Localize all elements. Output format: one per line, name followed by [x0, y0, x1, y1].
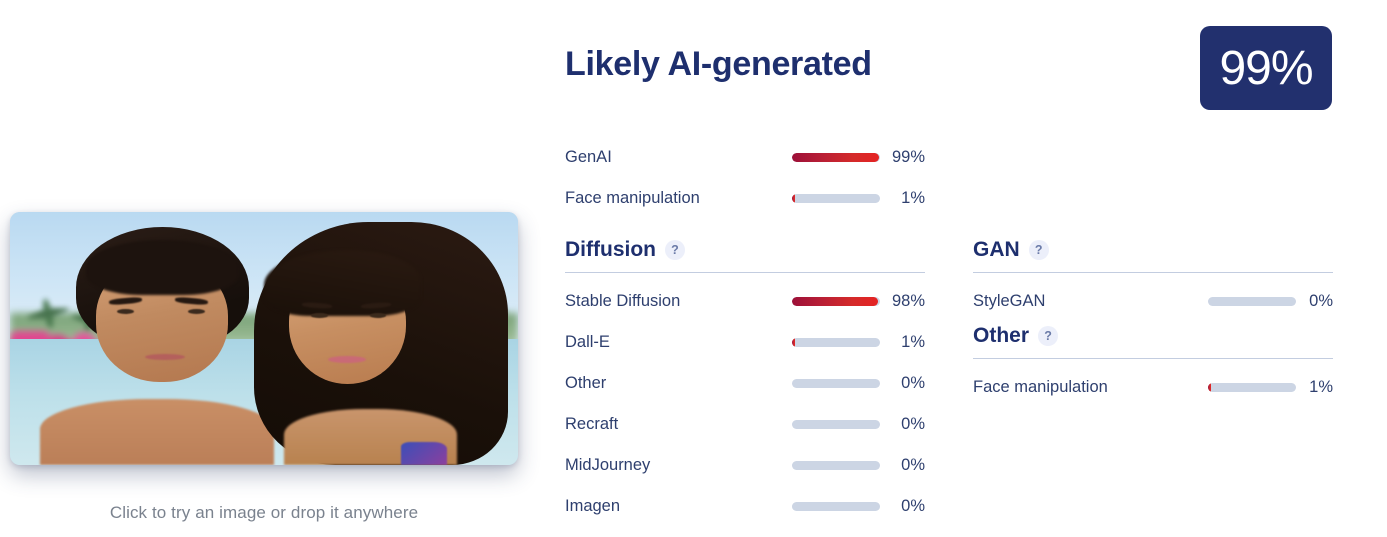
probability-bar-track: [792, 338, 880, 347]
probability-bar-track: [792, 461, 880, 470]
result-row-label: Face manipulation: [565, 189, 700, 208]
detection-results: Likely AI-generated 99% GenAI99%Face man…: [565, 0, 1387, 537]
result-section: Diffusion?Stable Diffusion98%Dall-E1%Oth…: [565, 238, 925, 527]
result-row: MidJourney0%: [565, 445, 925, 486]
result-row: Dall-E1%: [565, 322, 925, 363]
result-row-percent: 1%: [1298, 378, 1333, 397]
result-row-percent: 0%: [890, 374, 925, 393]
section-header: GAN?: [973, 238, 1333, 272]
help-icon[interactable]: ?: [1038, 326, 1058, 346]
probability-bar-track: [792, 502, 880, 511]
probability-bar-fill: [792, 297, 878, 306]
section-title: Diffusion: [565, 238, 656, 262]
result-row-percent: 1%: [890, 189, 925, 208]
section-title: GAN: [973, 238, 1020, 262]
image-preview-panel: Click to try an image or drop it anywher…: [0, 0, 540, 537]
section-header: Diffusion?: [565, 238, 925, 272]
result-row-label: Stable Diffusion: [565, 292, 680, 311]
drop-image-hint[interactable]: Click to try an image or drop it anywher…: [0, 503, 528, 523]
result-row-percent: 0%: [890, 497, 925, 516]
section-divider: [565, 272, 925, 273]
result-row-percent: 0%: [1298, 292, 1333, 311]
section-title: Other: [973, 324, 1029, 348]
result-row-label: Recraft: [565, 415, 618, 434]
result-row: Stable Diffusion98%: [565, 281, 925, 322]
probability-bar-fill: [1208, 383, 1211, 392]
result-row: GenAI99%: [565, 137, 925, 178]
result-row: Face manipulation1%: [565, 178, 925, 219]
probability-bar-track: [792, 420, 880, 429]
summary-rows: GenAI99%Face manipulation1%: [565, 137, 925, 219]
result-row: Recraft0%: [565, 404, 925, 445]
thumbnail-artwork: [10, 212, 518, 465]
result-row: Imagen0%: [565, 486, 925, 527]
left-results-column: Diffusion?Stable Diffusion98%Dall-E1%Oth…: [565, 238, 925, 529]
section-rows: StyleGAN0%: [973, 281, 1333, 322]
result-row-label: Imagen: [565, 497, 620, 516]
probability-bar-track: [1208, 297, 1296, 306]
result-row-percent: 0%: [890, 415, 925, 434]
result-row-label: MidJourney: [565, 456, 650, 475]
confidence-score-badge: 99%: [1200, 26, 1332, 110]
section-divider: [973, 272, 1333, 273]
result-row: StyleGAN0%: [973, 281, 1333, 322]
probability-bar-track: [1208, 383, 1296, 392]
probability-bar-track: [792, 153, 880, 162]
probability-bar-fill: [792, 194, 795, 203]
result-section: GAN?StyleGAN0%: [973, 238, 1333, 322]
result-row-label: Face manipulation: [973, 378, 1108, 397]
uploaded-image-thumbnail[interactable]: [10, 212, 518, 465]
section-header: Other?: [973, 324, 1333, 358]
help-icon[interactable]: ?: [1029, 240, 1049, 260]
probability-bar-track: [792, 194, 880, 203]
probability-bar-track: [792, 297, 880, 306]
result-row-percent: 1%: [890, 333, 925, 352]
section-rows: Face manipulation1%: [973, 367, 1333, 408]
result-row: Other0%: [565, 363, 925, 404]
verdict-title: Likely AI-generated: [565, 45, 872, 84]
result-row-percent: 99%: [890, 148, 925, 167]
section-divider: [973, 358, 1333, 359]
probability-bar-fill: [792, 338, 795, 347]
result-section: Other?Face manipulation1%: [973, 324, 1333, 408]
result-row-label: GenAI: [565, 148, 612, 167]
result-row-label: Other: [565, 374, 606, 393]
probability-bar-track: [792, 379, 880, 388]
probability-bar-fill: [792, 153, 879, 162]
help-icon[interactable]: ?: [665, 240, 685, 260]
right-results-column: GAN?StyleGAN0%Other?Face manipulation1%: [973, 238, 1333, 410]
result-row-label: StyleGAN: [973, 292, 1045, 311]
result-row-percent: 98%: [890, 292, 925, 311]
result-row: Face manipulation1%: [973, 367, 1333, 408]
result-row-label: Dall-E: [565, 333, 610, 352]
result-row-percent: 0%: [890, 456, 925, 475]
thumbnail-overlay: [10, 212, 518, 465]
ai-detection-result-panel: Click to try an image or drop it anywher…: [0, 0, 1387, 537]
section-rows: Stable Diffusion98%Dall-E1%Other0%Recraf…: [565, 281, 925, 527]
